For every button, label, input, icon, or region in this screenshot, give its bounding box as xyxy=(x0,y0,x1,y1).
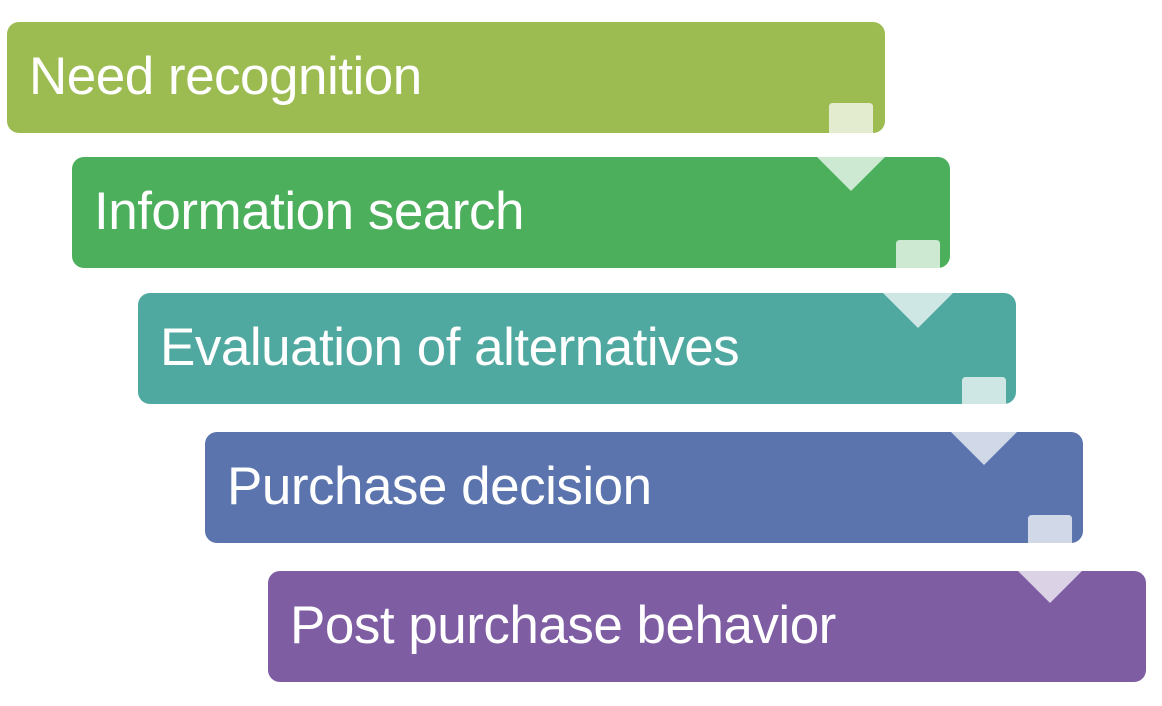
process-step-purchase-decision[interactable]: Purchase decision xyxy=(205,432,1083,543)
process-step-label: Purchase decision xyxy=(205,460,652,513)
process-step-label: Need recognition xyxy=(7,50,422,103)
process-step-information-search[interactable]: Information search xyxy=(72,157,950,268)
process-step-label: Evaluation of alternatives xyxy=(138,321,739,374)
process-step-label: Information search xyxy=(72,185,524,238)
process-step-evaluation-of-alternatives[interactable]: Evaluation of alternatives xyxy=(138,293,1016,404)
process-step-need-recognition[interactable]: Need recognition xyxy=(7,22,885,133)
process-diagram-canvas: Need recognition Information search Eval… xyxy=(0,0,1162,706)
process-step-post-purchase-behavior[interactable]: Post purchase behavior xyxy=(268,571,1146,682)
process-step-label: Post purchase behavior xyxy=(268,599,836,652)
